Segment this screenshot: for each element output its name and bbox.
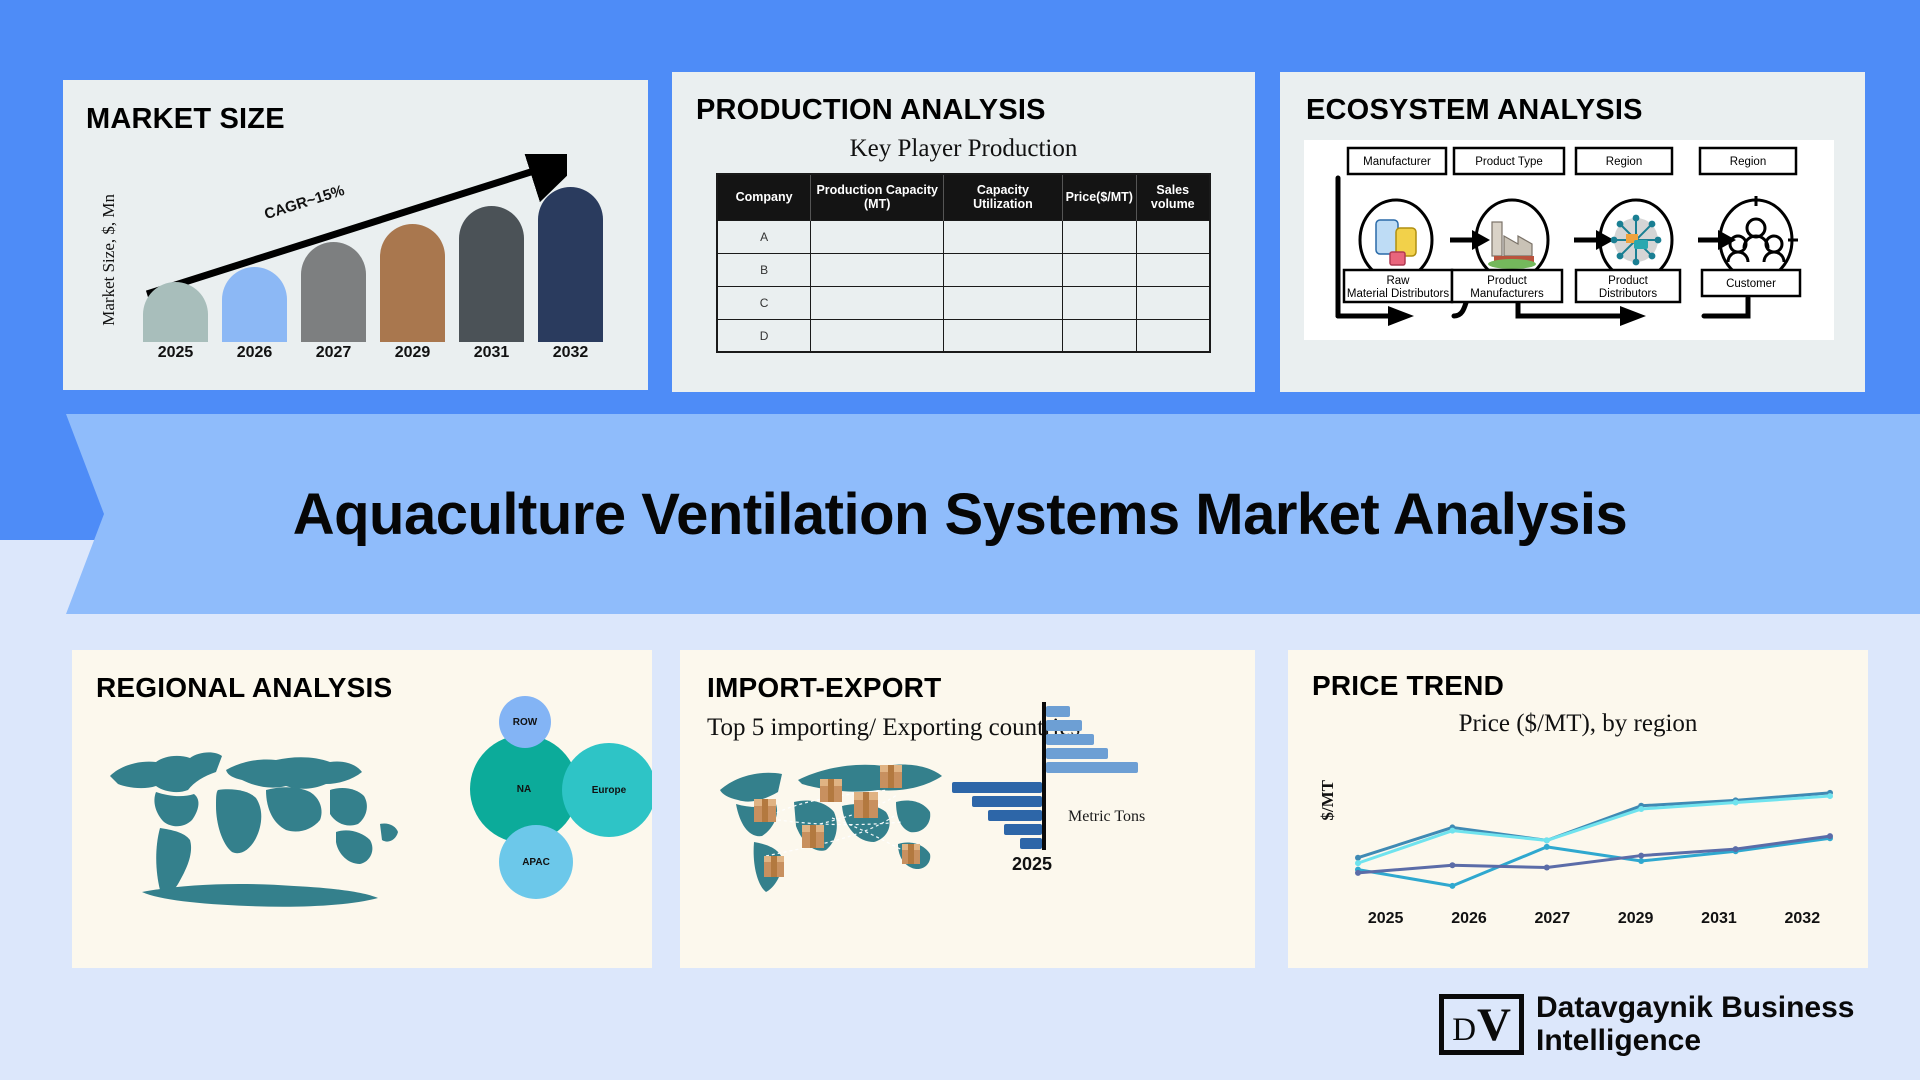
price-trend-data-point xyxy=(1544,864,1550,870)
price-trend-data-point xyxy=(1827,793,1833,799)
table-column-header: Company xyxy=(717,174,811,220)
production-analysis-subtitle: Key Player Production xyxy=(672,135,1255,163)
tornado-bar-export xyxy=(1046,734,1094,745)
world-map-icon xyxy=(98,728,418,918)
page-title: Aquaculture Ventilation Systems Market A… xyxy=(0,414,1920,614)
market-size-bar xyxy=(538,187,603,342)
table-cell: C xyxy=(717,286,811,319)
tornado-year-label: 2025 xyxy=(1012,854,1052,875)
table-cell xyxy=(944,220,1062,253)
region-bubble-apac: APAC xyxy=(499,825,573,899)
table-cell xyxy=(1136,253,1210,286)
ecosystem-bottom-3-label: Customer xyxy=(1726,278,1776,290)
market-size-year-label: 2026 xyxy=(222,344,287,362)
regional-analysis-card: REGIONAL ANALYSIS NA Europe APAC ROW xyxy=(72,650,652,968)
import-export-card: IMPORT-EXPORT Top 5 importing/ Exporting… xyxy=(680,650,1255,968)
tornado-units-label: Metric Tons xyxy=(1068,808,1145,826)
table-row: A xyxy=(717,220,1210,253)
table-cell xyxy=(1062,220,1136,253)
tornado-bar-import xyxy=(1004,824,1042,835)
market-size-bar xyxy=(459,206,524,342)
price-trend-chart: $/MT 202520262027202920312032 xyxy=(1288,758,1868,958)
logo-company-name: Datavgaynik Business Intelligence xyxy=(1536,991,1866,1058)
table-cell xyxy=(944,286,1062,319)
table-cell: B xyxy=(717,253,811,286)
table-cell xyxy=(1062,319,1136,352)
ecosystem-analysis-title: ECOSYSTEM ANALYSIS xyxy=(1306,94,1865,127)
table-column-header: Price($/MT) xyxy=(1062,174,1136,220)
table-row: C xyxy=(717,286,1210,319)
logo-letter-v: V xyxy=(1477,1001,1511,1050)
table-column-header: Sales volume xyxy=(1136,174,1210,220)
table-cell xyxy=(944,319,1062,352)
tornado-bar-export xyxy=(1046,762,1138,773)
ecosystem-diagram: ManufacturerProduct TypeRegionRegion Raw… xyxy=(1304,140,1834,340)
barrels-icon xyxy=(1376,220,1416,265)
table-body: ABCD xyxy=(717,220,1210,352)
table-cell xyxy=(1136,220,1210,253)
price-trend-year-label: 2027 xyxy=(1511,910,1594,928)
price-trend-data-point xyxy=(1449,828,1455,834)
production-analysis-card: PRODUCTION ANALYSIS Key Player Productio… xyxy=(672,72,1255,392)
table-cell xyxy=(1136,286,1210,319)
tornado-bar-import xyxy=(972,796,1042,807)
price-trend-data-point xyxy=(1638,858,1644,864)
market-size-title: MARKET SIZE xyxy=(86,103,648,136)
price-trend-data-point xyxy=(1355,860,1361,866)
table-cell xyxy=(811,319,944,352)
market-size-bar xyxy=(143,282,208,342)
ecosystem-top-1-label: Product Type xyxy=(1475,156,1543,168)
table-cell xyxy=(811,286,944,319)
tornado-bar-export xyxy=(1046,720,1082,731)
region-bubble-row: ROW xyxy=(499,696,551,748)
price-trend-year-label: 2032 xyxy=(1761,910,1844,928)
distribution-network-icon xyxy=(1611,215,1662,266)
price-trend-x-axis: 202520262027202920312032 xyxy=(1344,910,1844,928)
import-export-tornado-chart: Metric Tons 2025 xyxy=(972,702,1147,862)
market-size-card: MARKET SIZE Market Size, $, Mn CAGR~15% … xyxy=(63,80,648,390)
regional-analysis-title: REGIONAL ANALYSIS xyxy=(96,672,652,704)
market-size-chart: Market Size, $, Mn CAGR~15% 202520262027… xyxy=(63,136,648,376)
table-cell xyxy=(811,220,944,253)
trade-flow-map-icon xyxy=(702,746,964,896)
market-size-x-axis: 202520262027202920312032 xyxy=(143,344,603,362)
price-trend-title: PRICE TREND xyxy=(1312,670,1868,702)
price-trend-card: PRICE TREND Price ($/MT), by region $/MT… xyxy=(1288,650,1868,968)
market-size-year-label: 2027 xyxy=(301,344,366,362)
market-size-year-label: 2031 xyxy=(459,344,524,362)
price-trend-data-point xyxy=(1355,870,1361,876)
price-trend-data-point xyxy=(1449,862,1455,868)
price-trend-data-point xyxy=(1544,837,1550,843)
price-trend-data-point xyxy=(1827,833,1833,839)
table-row: D xyxy=(717,319,1210,352)
price-trend-data-point xyxy=(1733,800,1739,806)
table-cell: D xyxy=(717,319,811,352)
price-trend-year-label: 2025 xyxy=(1344,910,1427,928)
price-trend-data-point xyxy=(1544,844,1550,850)
market-size-bar xyxy=(380,224,445,342)
price-trend-data-point xyxy=(1638,853,1644,859)
table-cell: A xyxy=(717,220,811,253)
price-trend-lines xyxy=(1344,766,1844,911)
factory-icon xyxy=(1488,222,1536,269)
logo-letter-d: D xyxy=(1452,1013,1476,1048)
region-bubble-europe: Europe xyxy=(562,743,652,837)
price-trend-data-point xyxy=(1449,883,1455,889)
table-column-header: Production Capacity (MT) xyxy=(811,174,944,220)
logo-mark-icon: D V xyxy=(1439,994,1524,1055)
key-player-production-table: CompanyProduction Capacity (MT)Capacity … xyxy=(716,173,1211,353)
market-size-year-label: 2032 xyxy=(538,344,603,362)
table-cell xyxy=(811,253,944,286)
table-cell xyxy=(1062,286,1136,319)
tornado-bar-import xyxy=(952,782,1042,793)
ecosystem-top-3-label: Region xyxy=(1730,156,1766,168)
price-trend-year-label: 2026 xyxy=(1427,910,1510,928)
market-size-bars xyxy=(143,170,603,342)
table-cell xyxy=(944,253,1062,286)
price-trend-data-point xyxy=(1638,806,1644,812)
price-trend-data-point xyxy=(1355,855,1361,861)
table-header-row: CompanyProduction Capacity (MT)Capacity … xyxy=(717,174,1210,220)
tornado-bar-import xyxy=(1020,838,1042,849)
table-cell xyxy=(1062,253,1136,286)
tornado-bar-export xyxy=(1046,706,1070,717)
market-size-year-label: 2025 xyxy=(143,344,208,362)
import-export-title: IMPORT-EXPORT xyxy=(707,672,1255,704)
price-trend-y-axis-label: $/MT xyxy=(1318,780,1338,821)
tornado-bar-export xyxy=(1046,748,1108,759)
market-size-y-axis-label: Market Size, $, Mn xyxy=(99,194,119,326)
brand-logo: D V Datavgaynik Business Intelligence xyxy=(1439,991,1866,1058)
table-row: B xyxy=(717,253,1210,286)
price-trend-year-label: 2029 xyxy=(1594,910,1677,928)
tornado-bar-import xyxy=(988,810,1042,821)
ecosystem-analysis-card: ECOSYSTEM ANALYSIS xyxy=(1280,72,1865,392)
market-size-year-label: 2029 xyxy=(380,344,445,362)
price-trend-data-point xyxy=(1733,846,1739,852)
market-size-bar xyxy=(301,242,366,342)
market-size-bar xyxy=(222,267,287,342)
table-cell xyxy=(1136,319,1210,352)
ecosystem-top-0-label: Manufacturer xyxy=(1363,156,1431,168)
table-column-header: Capacity Utilization xyxy=(944,174,1062,220)
ecosystem-top-2-label: Region xyxy=(1606,156,1642,168)
price-trend-year-label: 2031 xyxy=(1677,910,1760,928)
production-analysis-title: PRODUCTION ANALYSIS xyxy=(696,94,1255,127)
price-trend-subtitle: Price ($/MT), by region xyxy=(1453,708,1703,739)
